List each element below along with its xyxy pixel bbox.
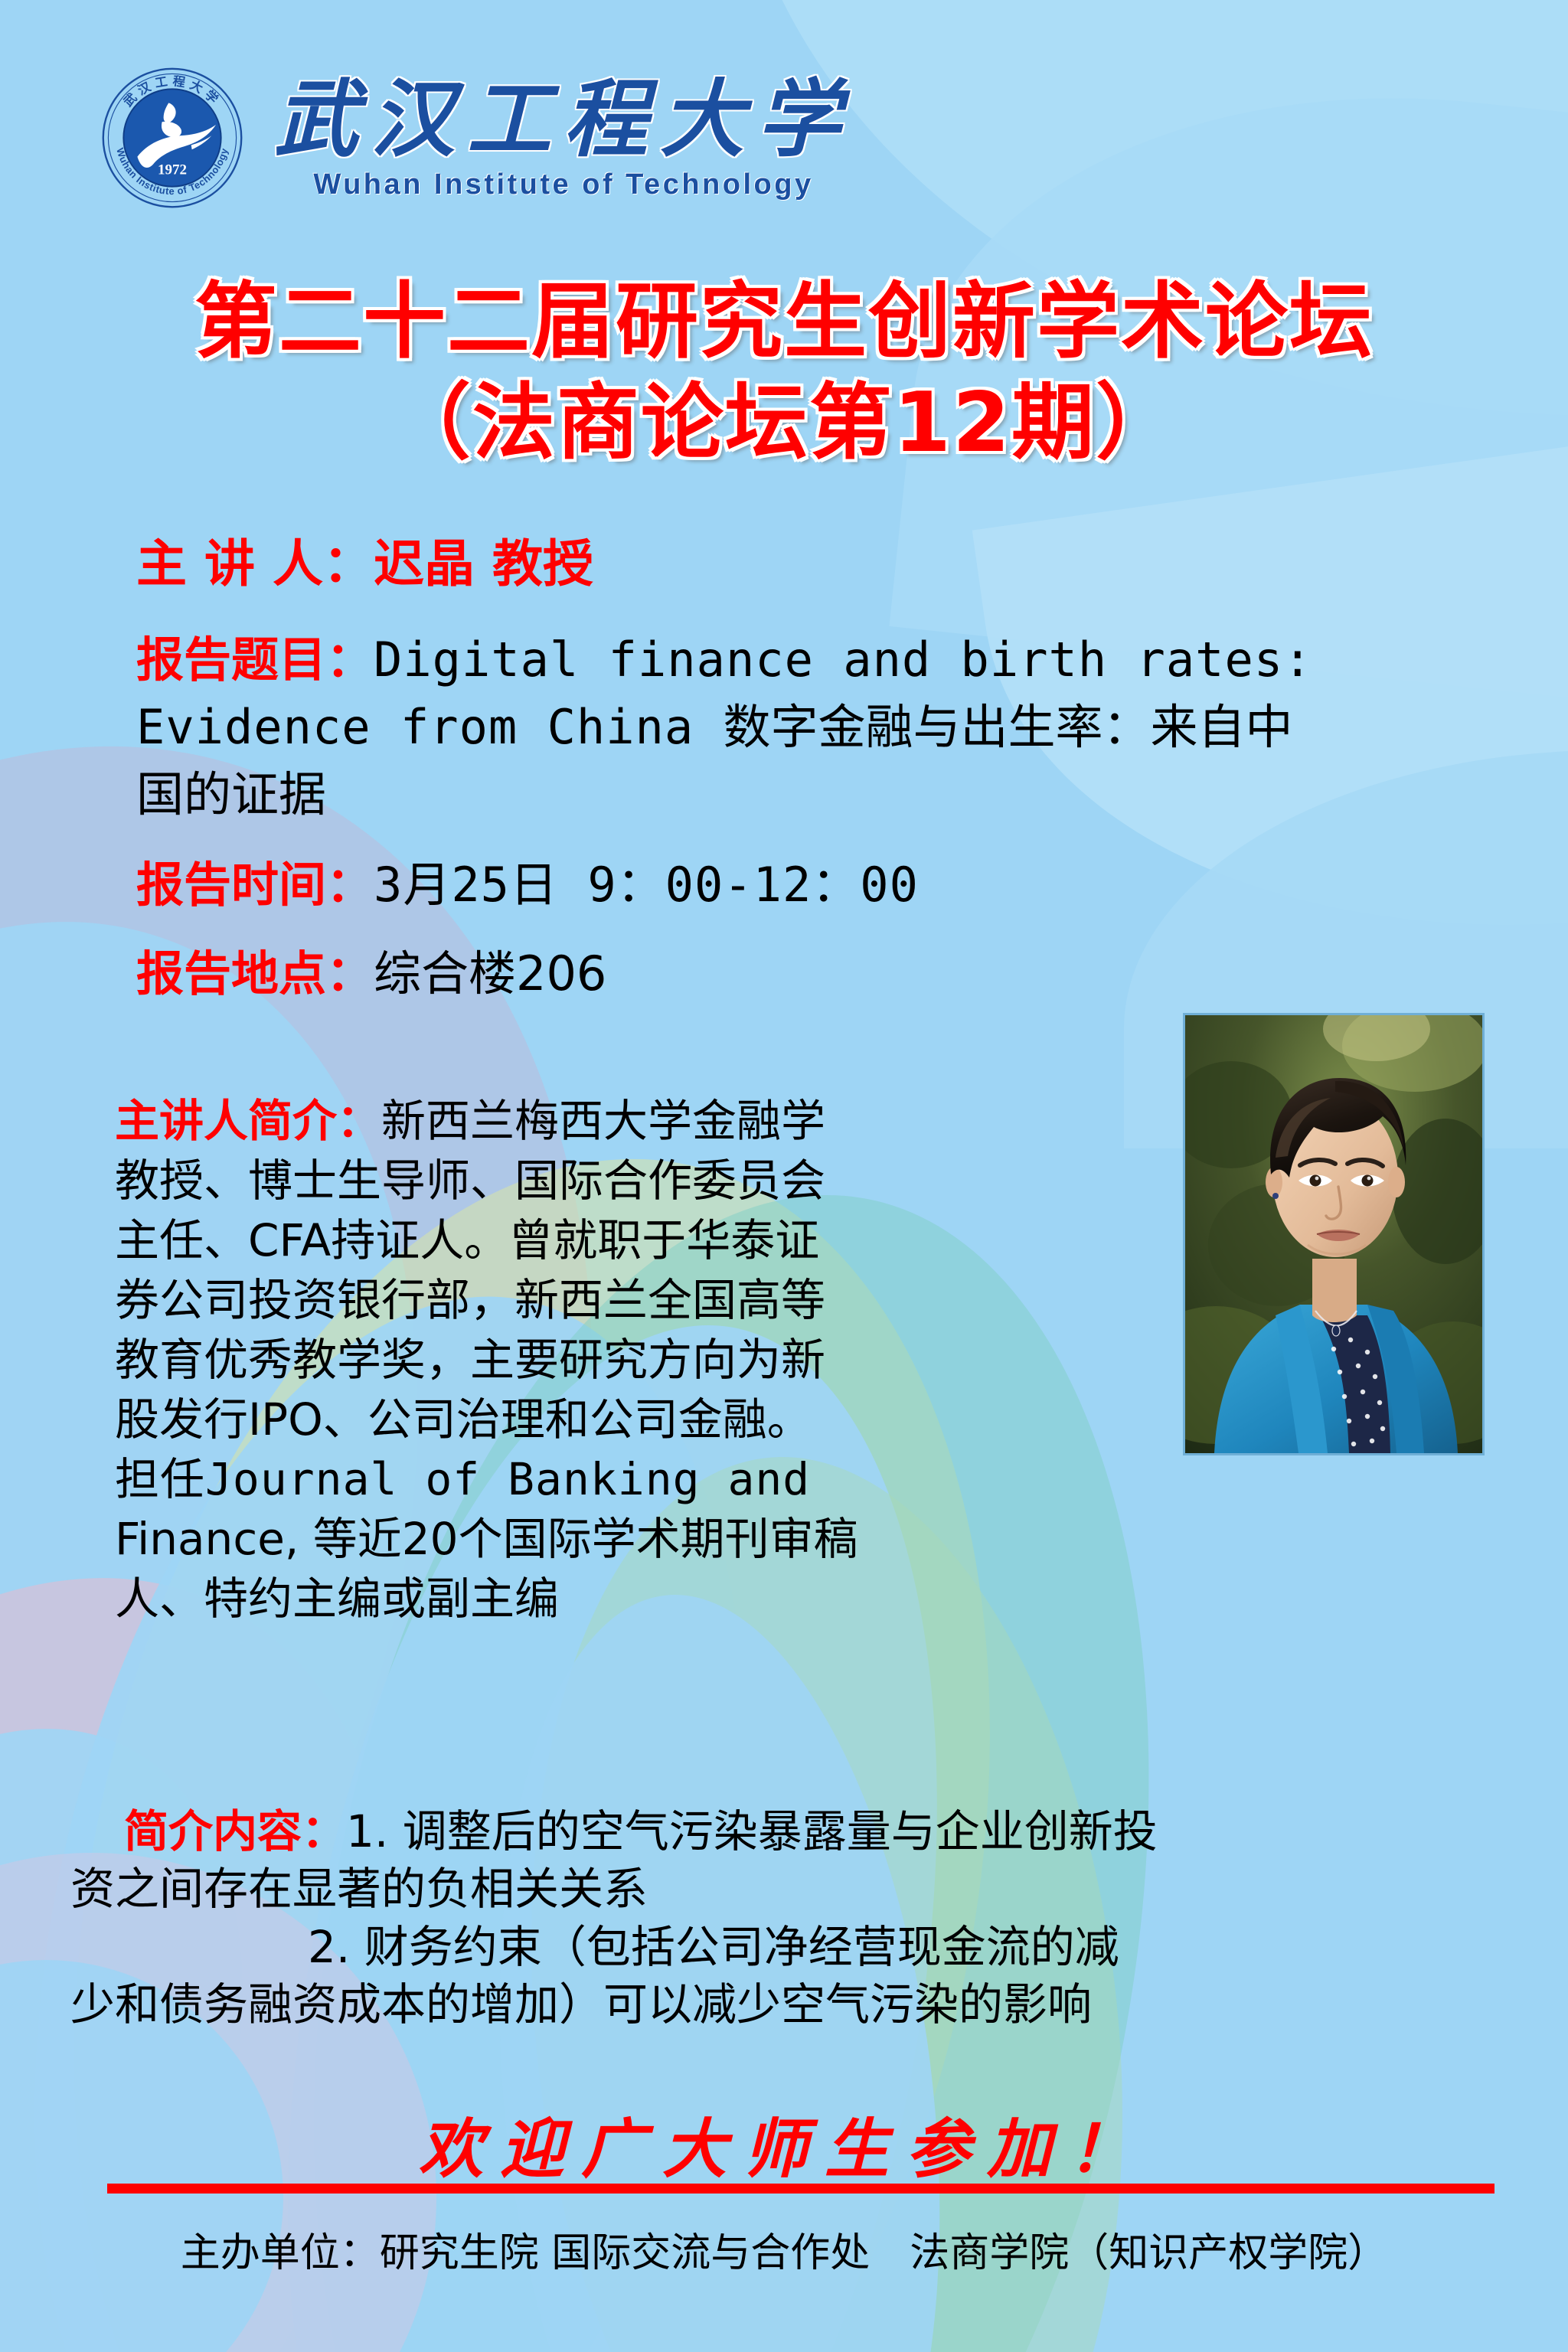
abstract-item1-line1: 1. 调整后的空气污染暴露量与企业创新投 (346, 1805, 1158, 1857)
bio-line-4: 券公司投资银行部，新西兰全国高等 (115, 1270, 1187, 1330)
abstract-section: 简介内容：1. 调整后的空气污染暴露量与企业创新投 资之间存在显著的负相关关系 … (70, 1803, 1517, 2034)
bio-line-2: 教授、博士生导师、国际合作委员会 (115, 1151, 1187, 1210)
speaker-bio: 主讲人简介：新西兰梅西大学金融学 教授、博士生导师、国际合作委员会 主任、CFA… (115, 1091, 1187, 1628)
speaker-portrait-photo (1183, 1013, 1485, 1455)
university-name-en: Wuhan Institute of Technology (313, 168, 813, 201)
event-info: 主 讲 人：迟晶 教授 报告题目：Digital finance and bir… (136, 528, 1507, 1008)
topic-line-3: 国的证据 (136, 766, 326, 822)
time-row: 报告时间：3月25日 9：00-12：00 (136, 851, 1507, 919)
abstract-item2-line2: 少和债务融资成本的增加）可以减少空气污染的影响 (70, 1976, 1517, 2033)
poster-root: 1972 武汉工程大学 Wuhan Institute of Technolog… (0, 0, 1568, 2352)
university-logo-icon: 1972 武汉工程大学 Wuhan Institute of Technolog… (100, 65, 245, 211)
topic-line-2-en: Evidence from China (136, 699, 724, 755)
bio-label: 主讲人简介： (115, 1095, 381, 1147)
speaker-row: 主 讲 人：迟晶 教授 (136, 528, 1507, 600)
poster-title: 第二十二届研究生创新学术论坛 （法商论坛第12期） (0, 272, 1568, 474)
university-wordmark: 武汉工程大学 Wuhan Institute of Technology (274, 74, 853, 201)
title-line-1: 第二十二届研究生创新学术论坛 (0, 272, 1568, 373)
topic-line-2-cn: 数字金融与出生率：来自中 (724, 699, 1293, 755)
place-value: 综合楼206 (374, 946, 606, 1001)
university-name-cn: 武汉工程大学 (274, 74, 853, 165)
abstract-item2-line1: 2. 财务约束（包括公司净经营现金流的减 (70, 1919, 1517, 1976)
welcome-message: 欢迎广大师生参加！ (0, 2098, 1568, 2190)
bio-line-7: 担任Journal of Banking and (115, 1449, 1187, 1509)
abstract-item1-line2: 资之间存在显著的负相关关系 (70, 1860, 1517, 1918)
topic-line-1: Digital finance and birth rates: (374, 632, 1312, 688)
organizer-line: 主办单位：研究生院 国际交流与合作处 法商学院（知识产权学院） (0, 2220, 1568, 2278)
place-row: 报告地点：综合楼206 (136, 940, 1507, 1008)
bio-line-8: Finance, 等近20个国际学术期刊审稿 (115, 1509, 1187, 1569)
bio-line-5: 教育优秀教学奖，主要研究方向为新 (115, 1330, 1187, 1390)
place-label: 报告地点： (136, 946, 374, 1001)
bio-line-6: 股发行IPO、公司治理和公司金融。 (115, 1390, 1187, 1449)
abstract-label: 简介内容： (124, 1805, 346, 1857)
title-line-2: （法商论坛第12期） (0, 373, 1568, 474)
bio-line-3: 主任、CFA持证人。曾就职于华泰证 (115, 1210, 1187, 1270)
speaker-label: 主 讲 人： (136, 534, 374, 593)
bio-line-9: 人、特约主编或副主编 (115, 1569, 1187, 1628)
abstract-line-1: 简介内容：1. 调整后的空气污染暴露量与企业创新投 (70, 1803, 1517, 1860)
bio-line-1: 主讲人简介：新西兰梅西大学金融学 (115, 1091, 1187, 1151)
bio-line-1-rest: 新西兰梅西大学金融学 (381, 1095, 825, 1147)
logo-year-text: 1972 (158, 162, 187, 178)
university-header: 1972 武汉工程大学 Wuhan Institute of Technolog… (100, 65, 853, 211)
topic-row: 报告题目：Digital finance and birth rates: Ev… (136, 626, 1507, 828)
footer-divider-rule (107, 2184, 1494, 2194)
time-label: 报告时间： (136, 857, 374, 913)
topic-label: 报告题目： (136, 632, 374, 688)
time-value: 3月25日 9：00-12：00 (374, 857, 919, 913)
speaker-value: 迟晶 教授 (374, 534, 593, 593)
